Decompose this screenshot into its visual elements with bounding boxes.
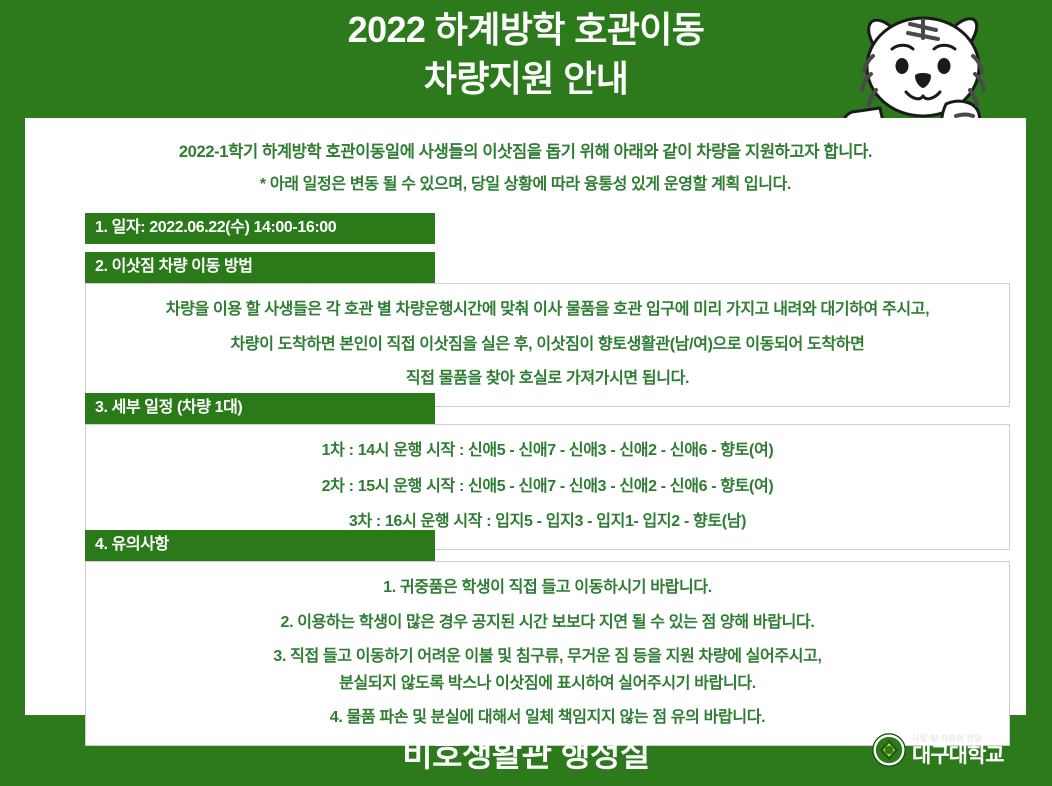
notice-item-2: 2. 이용하는 학생이 많은 경우 공지된 시간 보보다 지연 될 수 있는 점… — [94, 610, 1001, 636]
section-date: 1. 일자: 2022.06.22(수) 14:00-16:00 — [85, 213, 1010, 244]
university-tagline: 사랑·빛·자유의 전당 — [912, 735, 1004, 743]
method-line-1: 차량을 이용 할 사생들은 각 호관 별 차량운행시간에 맞춰 이사 물품을 호… — [94, 297, 1001, 323]
page-title: 2022 하계방학 호관이동 차량지원 안내 — [0, 6, 1052, 104]
poster-header: 2022 하계방학 호관이동 차량지원 안내 — [0, 0, 1052, 118]
section-method: 2. 이삿짐 차량 이동 방법 차량을 이용 할 사생들은 각 호관 별 차량운… — [85, 252, 1010, 407]
section-notice: 4. 유의사항 1. 귀중품은 학생이 직접 들고 이동하시기 바랍니다. 2.… — [85, 530, 1010, 746]
section-schedule-heading: 3. 세부 일정 (차량 1대) — [85, 393, 435, 424]
section-method-heading: 2. 이삿짐 차량 이동 방법 — [85, 252, 435, 283]
intro-line-1: 2022-1학기 하계방학 호관이동일에 사생들의 이삿짐을 돕기 위해 아래와… — [25, 140, 1026, 165]
notice-item-1: 1. 귀중품은 학생이 직접 들고 이동하시기 바랍니다. — [94, 575, 1001, 601]
intro-line-2: * 아래 일정은 변동 될 수 있으며, 당일 상황에 따라 융통성 있게 운영… — [25, 173, 1026, 197]
notice-item-3: 3. 직접 들고 이동하기 어려운 이불 및 침구류, 무거운 짐 등을 지원 … — [94, 644, 1001, 670]
content-panel: 2022-1학기 하계방학 호관이동일에 사생들의 이삿짐을 돕기 위해 아래와… — [25, 118, 1026, 715]
poster-root: 2022 하계방학 호관이동 차량지원 안내 — [0, 0, 1052, 786]
section-notice-heading: 4. 유의사항 — [85, 530, 435, 561]
title-line-2: 차량지원 안내 — [0, 55, 1052, 104]
university-logo-text: 사랑·빛·자유의 전당 대구대학교 — [912, 735, 1004, 766]
section-schedule: 3. 세부 일정 (차량 1대) 1차 : 14시 운행 시작 : 신애5 - … — [85, 393, 1010, 550]
method-line-2: 차량이 도착하면 본인이 직접 이삿짐을 실은 후, 이삿짐이 향토생활관(남/… — [94, 332, 1001, 358]
university-name: 대구대학교 — [912, 745, 1004, 766]
notice-item-3-continued: 분실되지 않도록 박스나 이삿짐에 표시하여 실어주시기 바랍니다. — [94, 671, 1001, 697]
method-line-3: 직접 물품을 찾아 호실로 가져가시면 됩니다. — [94, 366, 1001, 392]
title-line-1: 2022 하계방학 호관이동 — [0, 6, 1052, 55]
university-logo: 사랑·빛·자유의 전당 대구대학교 — [872, 726, 1032, 774]
section-method-body: 차량을 이용 할 사생들은 각 호관 별 차량운행시간에 맞춰 이사 물품을 호… — [85, 283, 1010, 407]
schedule-trip-1: 1차 : 14시 운행 시작 : 신애5 - 신애7 - 신애3 - 신애2 -… — [94, 438, 1001, 464]
intro-text: 2022-1학기 하계방학 호관이동일에 사생들의 이삿짐을 돕기 위해 아래와… — [25, 140, 1026, 197]
daegu-university-emblem-icon — [872, 733, 906, 767]
section-date-heading: 1. 일자: 2022.06.22(수) 14:00-16:00 — [85, 213, 435, 244]
schedule-trip-2: 2차 : 15시 운행 시작 : 신애5 - 신애7 - 신애3 - 신애2 -… — [94, 474, 1001, 500]
